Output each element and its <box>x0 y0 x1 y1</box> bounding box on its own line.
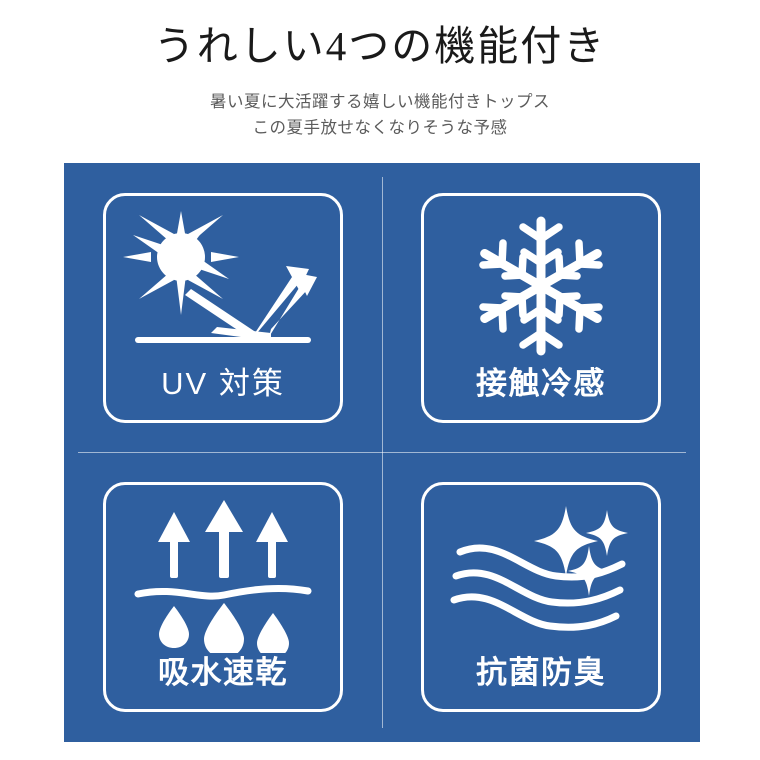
sun-uv-reflect-icon <box>121 206 326 366</box>
snowflake-icon <box>439 206 644 366</box>
feature-cell-cool-touch: 接触冷感 <box>382 163 700 453</box>
feature-promo-page: うれしい4つの機能付き 暑い夏に大活躍する嬉しい機能付きトップス この夏手放せな… <box>0 0 760 760</box>
feature-cell-quick-dry: 吸水速乾 <box>64 453 382 743</box>
features-panel: UV 対策 <box>64 163 700 742</box>
feature-label-cool-touch: 接触冷感 <box>476 368 606 399</box>
header: うれしい4つの機能付き 暑い夏に大活躍する嬉しい機能付きトップス この夏手放せな… <box>0 0 760 141</box>
feature-card-uv-protection[interactable]: UV 対策 <box>103 193 343 423</box>
feature-cell-uv-protection: UV 対策 <box>64 163 382 453</box>
subtitle-line-2: この夏手放せなくなりそうな予感 <box>0 115 760 141</box>
waves-sparkle-icon <box>439 495 644 655</box>
feature-label-antibacterial: 抗菌防臭 <box>476 657 606 688</box>
features-grid: UV 対策 <box>64 163 700 742</box>
page-title: うれしい4つの機能付き <box>0 0 760 67</box>
moisture-wicking-droplets-icon <box>121 495 326 655</box>
feature-card-quick-dry[interactable]: 吸水速乾 <box>103 482 343 712</box>
feature-label-uv-protection: UV 対策 <box>161 368 285 399</box>
page-subtitle: 暑い夏に大活躍する嬉しい機能付きトップス この夏手放せなくなりそうな予感 <box>0 89 760 141</box>
subtitle-line-1: 暑い夏に大活躍する嬉しい機能付きトップス <box>0 89 760 115</box>
feature-label-quick-dry: 吸水速乾 <box>158 657 288 688</box>
feature-cell-antibacterial: 抗菌防臭 <box>382 453 700 743</box>
feature-card-cool-touch[interactable]: 接触冷感 <box>421 193 661 423</box>
feature-card-antibacterial[interactable]: 抗菌防臭 <box>421 482 661 712</box>
